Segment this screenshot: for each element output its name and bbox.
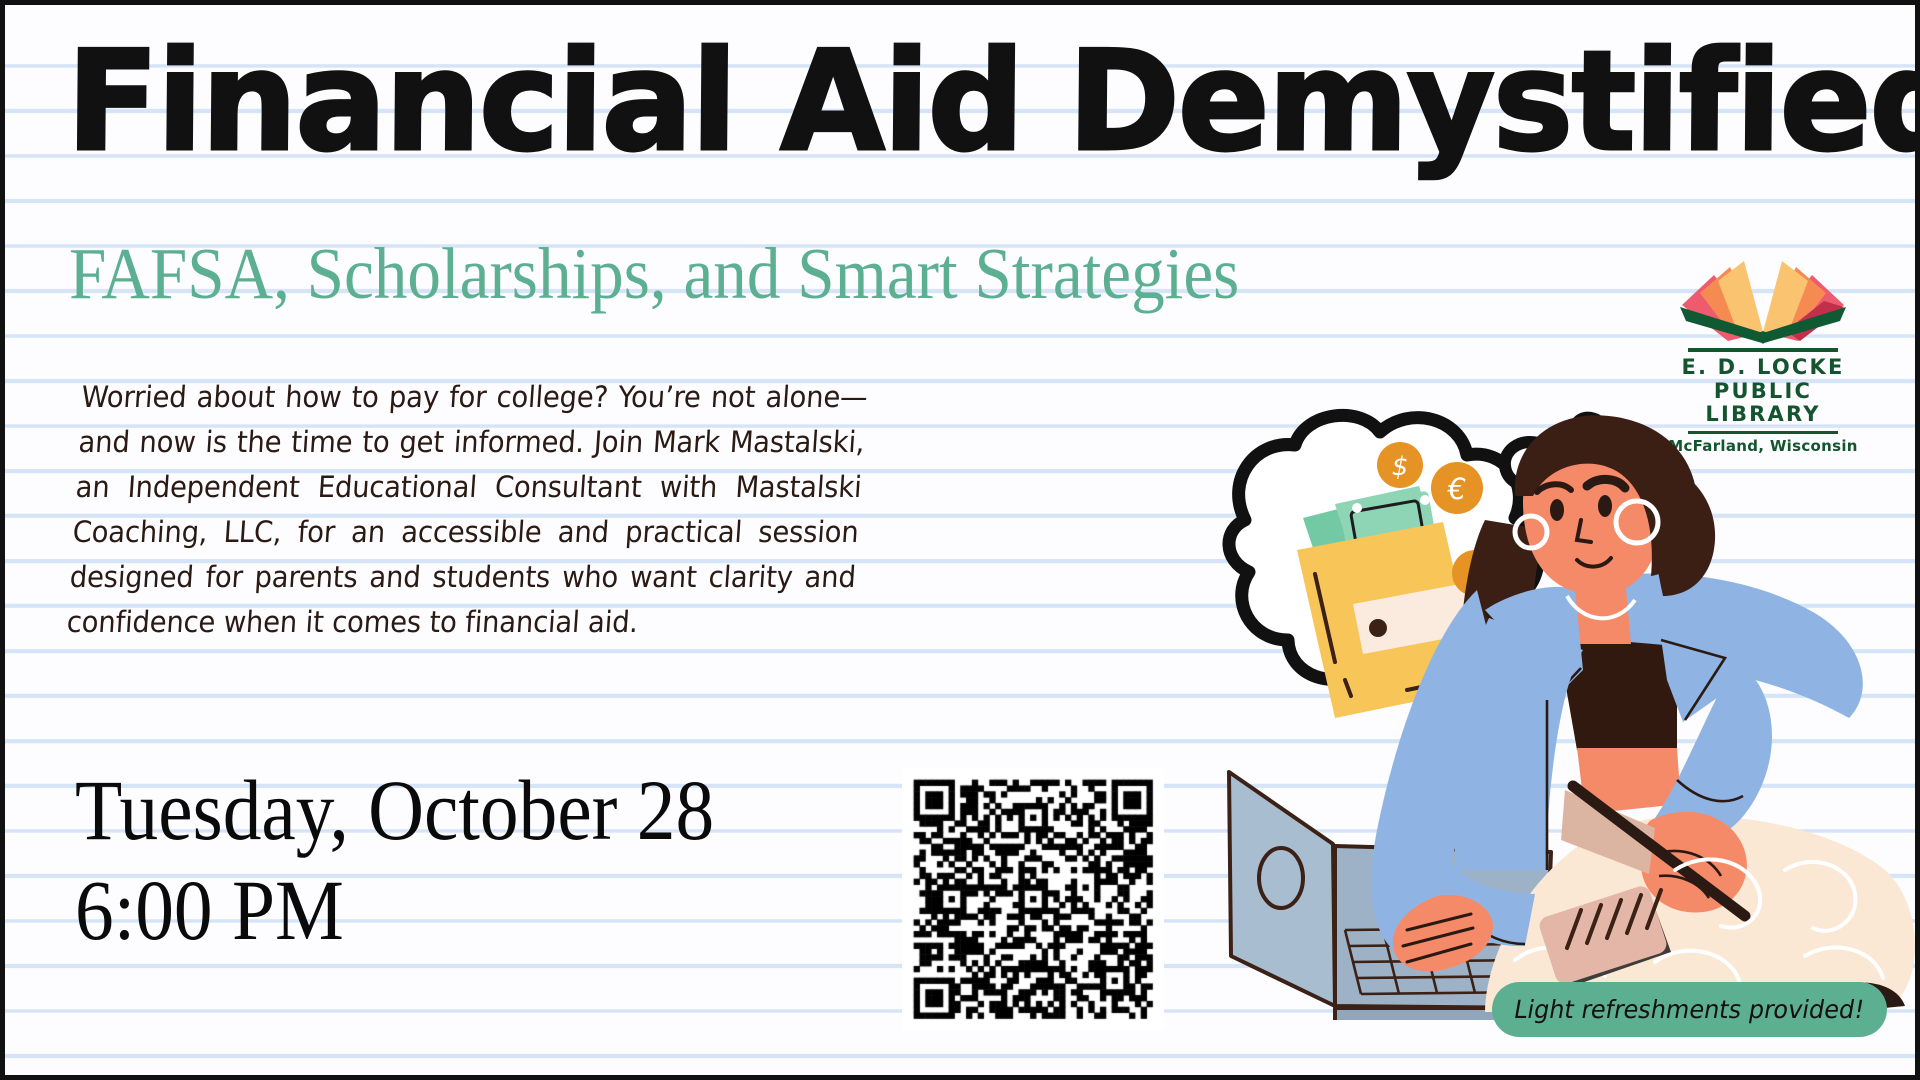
qr-code[interactable] [902,768,1164,1030]
qr-code-canvas[interactable] [902,768,1164,1030]
logo-line-1: E. D. LOCKE [1668,356,1858,380]
badge-label: Light refreshments provided! [1512,995,1867,1024]
event-date: Tuesday, October 28 [75,760,714,860]
poster-canvas: Financial Aid Demystified FAFSA, Scholar… [0,0,1920,1080]
event-time: 6:00 PM [75,860,714,960]
open-book-icon [1674,245,1852,345]
status-badge: Light refreshments provided! [1492,982,1887,1037]
event-datetime: Tuesday, October 28 6:00 PM [75,760,714,960]
coin-euro: € [1431,462,1483,514]
logo-divider-top [1688,348,1838,352]
page-subtitle: FAFSA, Scholarships, and Smart Strategie… [69,237,1239,310]
page-title: Financial Aid Demystified [66,33,1537,171]
illustration: $ € $ [1185,400,1920,1020]
coin-dollar-1: $ [1377,442,1423,488]
event-description: Worried about how to pay for college? Yo… [65,375,868,645]
illustration-svg: $ € $ [1185,400,1920,1020]
svg-text:€: € [1447,472,1466,506]
svg-text:$: $ [1392,452,1409,482]
